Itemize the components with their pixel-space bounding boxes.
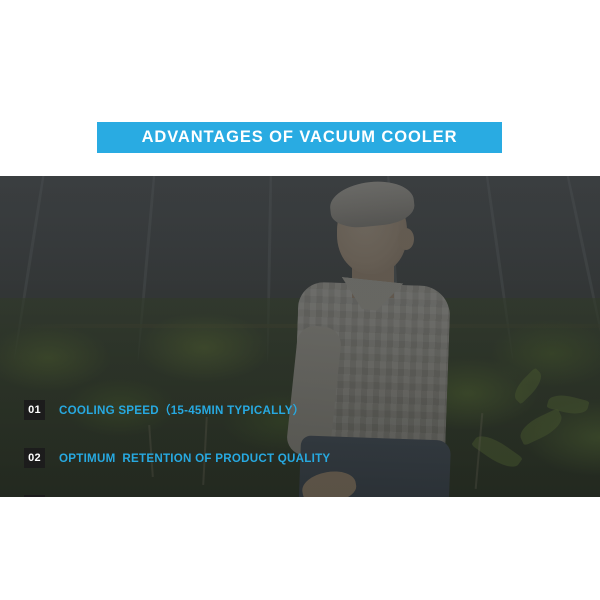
item-number-badge: 01 — [24, 400, 45, 420]
slide-page: ADVANTAGES OF VACUUM COOLER — [0, 0, 600, 600]
title-banner: ADVANTAGES OF VACUUM COOLER — [97, 122, 502, 153]
item-number-badge: 03 — [24, 495, 45, 497]
item-label: COOLING SPEED（15-45MIN TYPICALLY） — [59, 403, 305, 419]
list-item: 01 COOLING SPEED（15-45MIN TYPICALLY） — [24, 400, 305, 420]
item-number-badge: 02 — [24, 448, 45, 468]
background-photo: 01 COOLING SPEED（15-45MIN TYPICALLY） 02 … — [0, 176, 600, 497]
item-label: OPTIMUM RETENTION OF PRODUCT QUALITY — [59, 451, 330, 467]
advantages-list: 01 COOLING SPEED（15-45MIN TYPICALLY） 02 … — [0, 176, 600, 497]
page-title: ADVANTAGES OF VACUUM COOLER — [142, 129, 458, 146]
list-item: 03 EXTENSION OF SHELF LIFE — [24, 495, 225, 497]
list-item: 02 OPTIMUM RETENTION OF PRODUCT QUALITY — [24, 448, 330, 468]
